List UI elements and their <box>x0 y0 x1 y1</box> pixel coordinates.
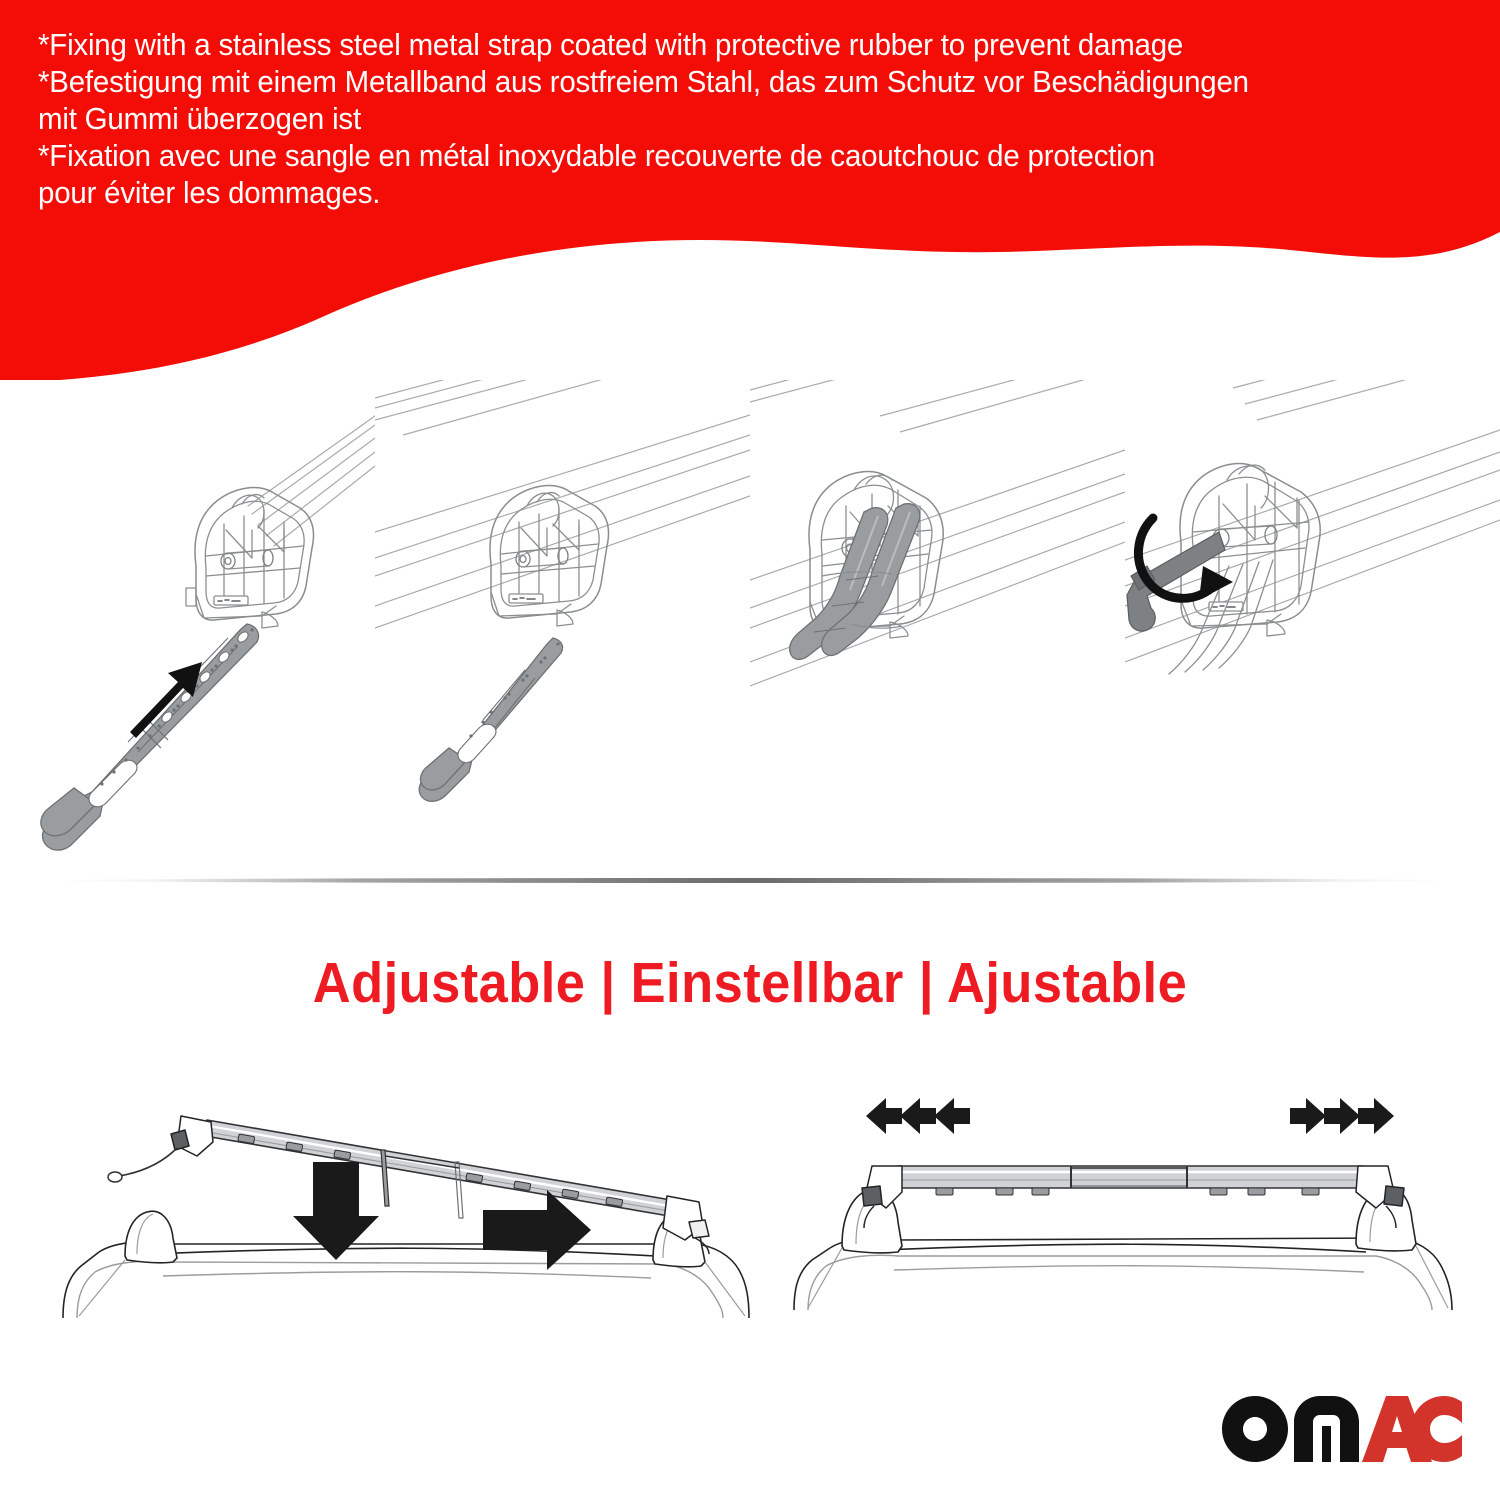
omac-logo <box>1222 1396 1462 1462</box>
logo-letter-m <box>1294 1396 1359 1462</box>
down-arrow-icon <box>293 1162 379 1260</box>
step-4-tighten-with-hex-key <box>1125 380 1500 880</box>
right-arrow-icon <box>483 1190 591 1270</box>
adjustable-section-heading: Adjustable | Einstellbar | Ajustable <box>60 952 1440 1014</box>
adjust-illustration-mount-crossbar <box>55 1080 755 1380</box>
logo-letter-o <box>1222 1396 1288 1462</box>
step-2-place-foot-on-roof-rail <box>375 380 750 880</box>
triple-left-arrows-icon <box>866 1098 970 1134</box>
step-1-insert-strap-into-foot <box>0 380 375 880</box>
installation-steps-strip <box>0 380 1500 880</box>
triple-right-arrows-icon <box>1290 1098 1394 1134</box>
banner-description-text: *Fixing with a stainless steel metal str… <box>38 26 1387 211</box>
section-divider <box>50 878 1450 883</box>
product-infographic: *Fixing with a stainless steel metal str… <box>0 0 1500 1500</box>
adjust-illustration-width <box>790 1080 1470 1380</box>
step-3-wrap-strap-around-rail <box>750 380 1125 880</box>
